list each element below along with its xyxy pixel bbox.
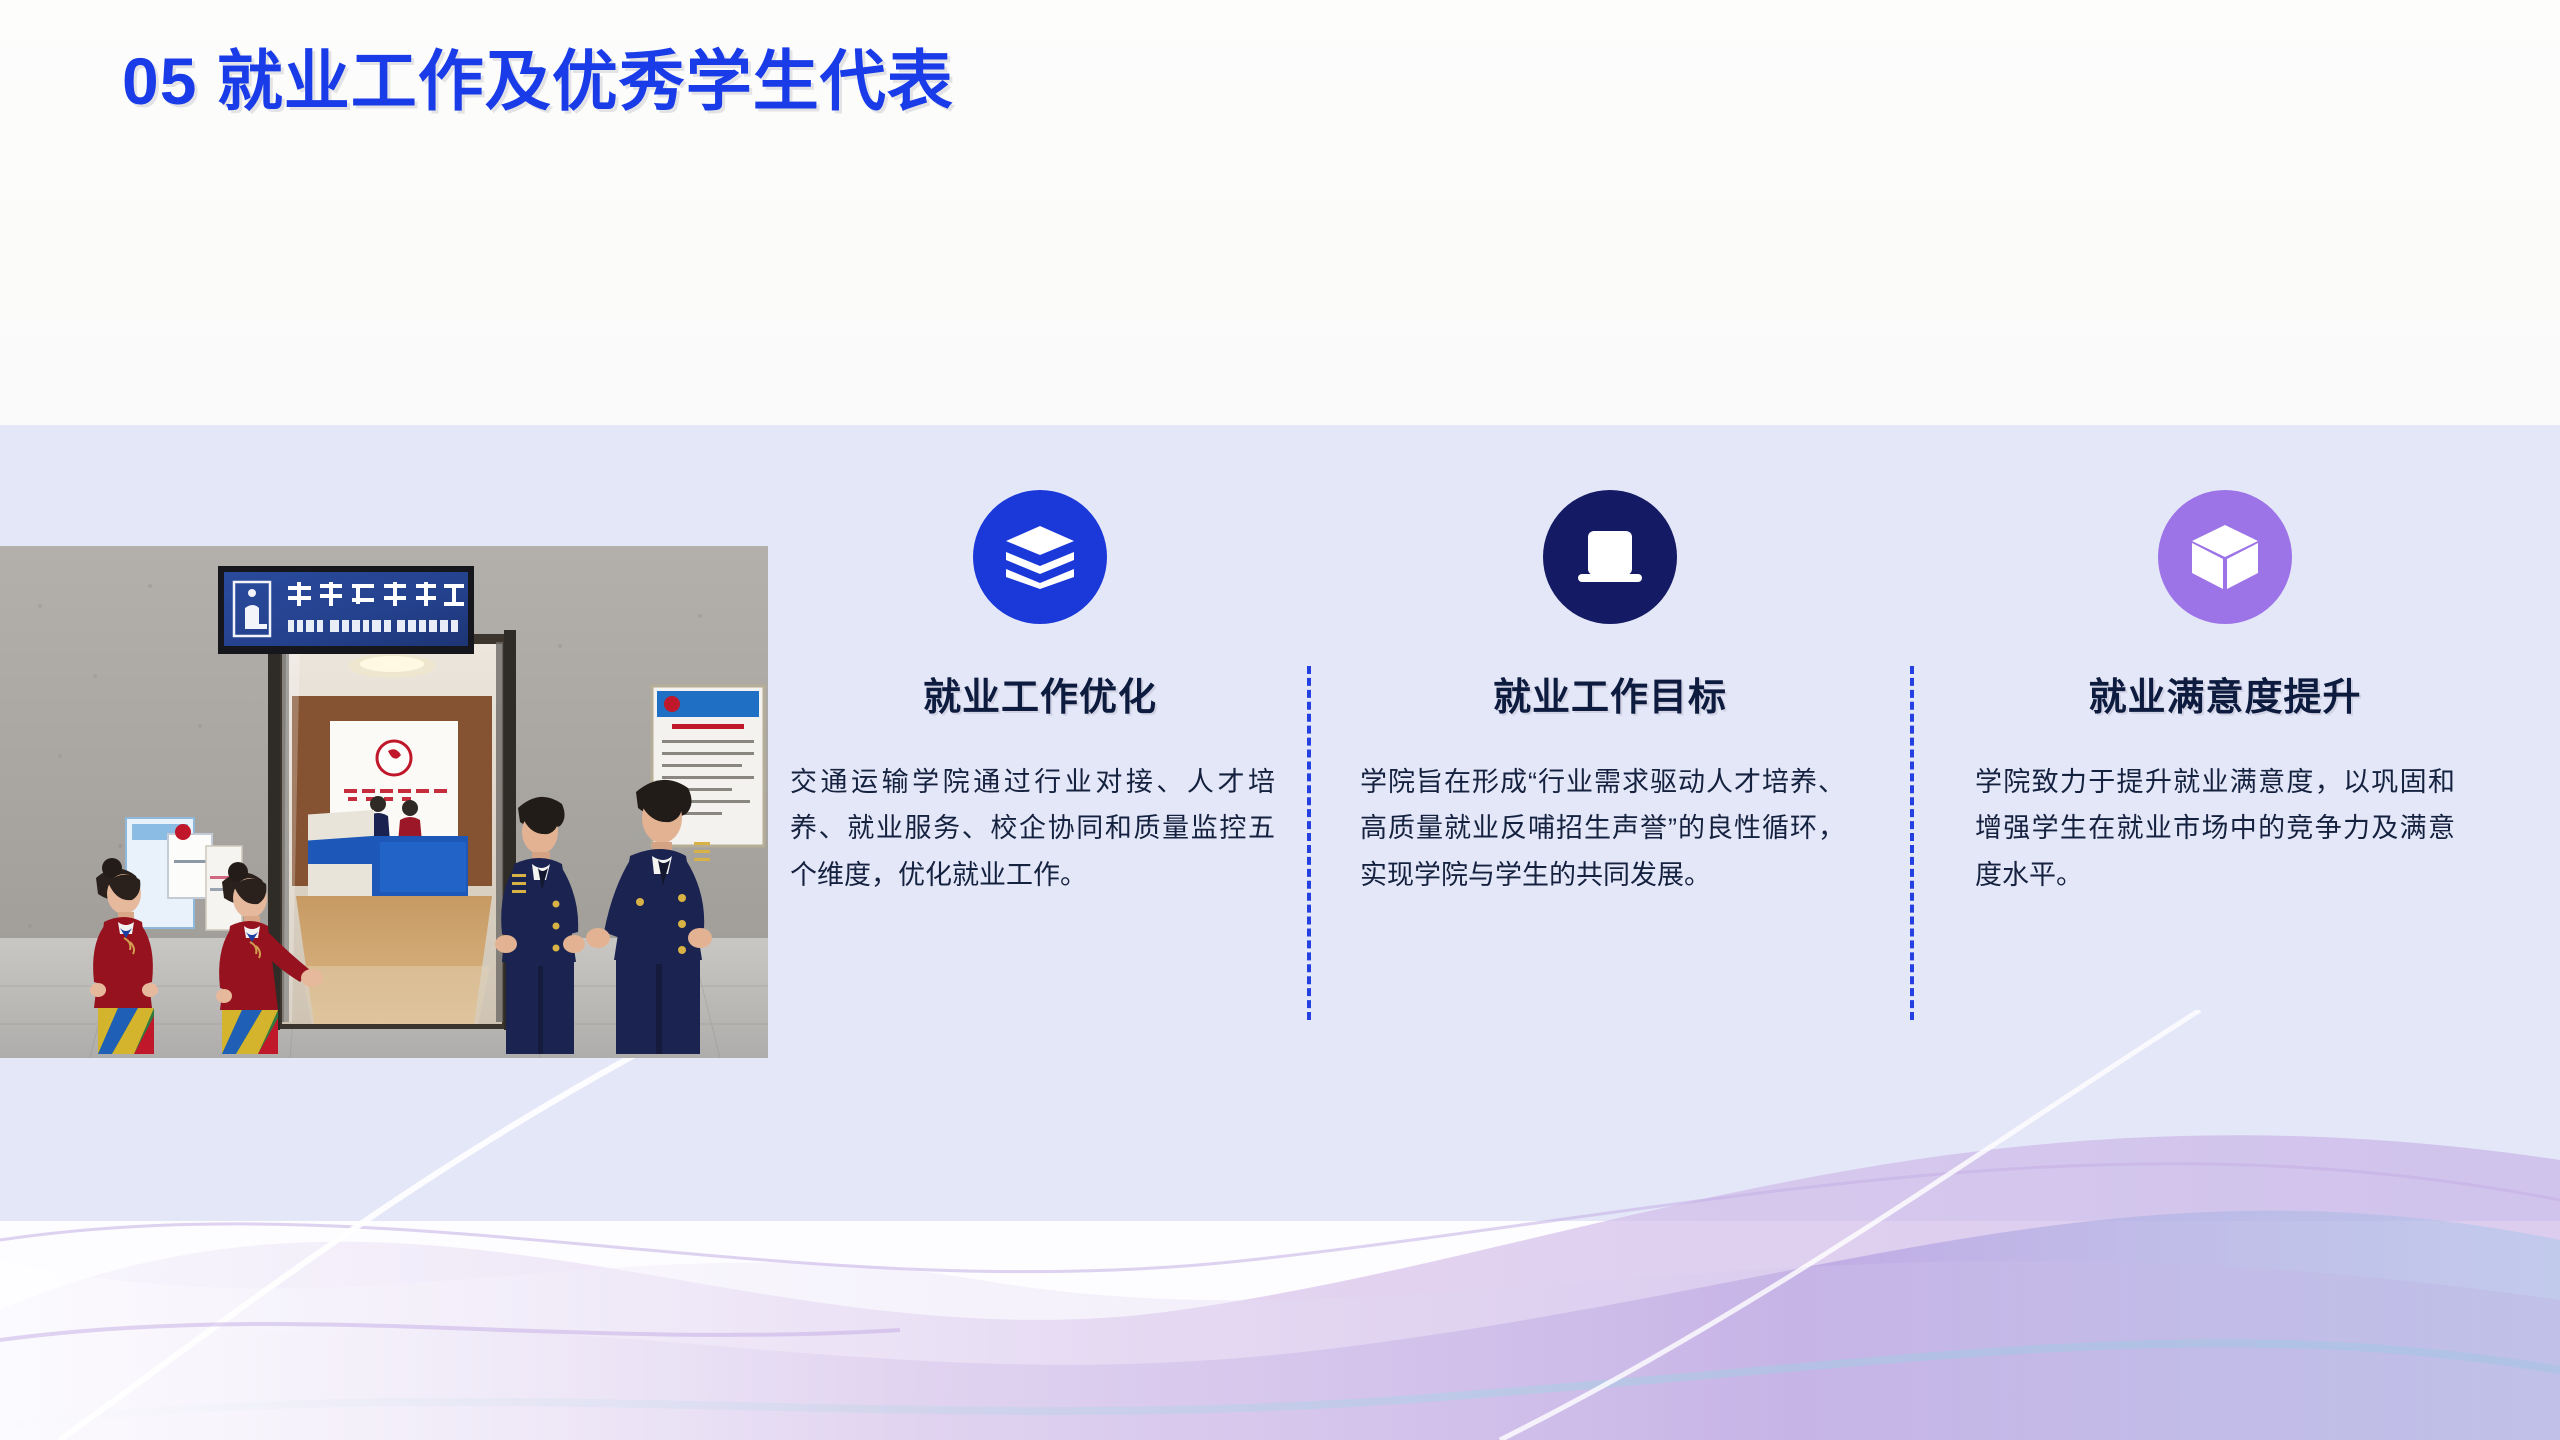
layers-icon <box>973 490 1107 624</box>
slide-canvas: 05 就业工作及优秀学生代表 <box>0 0 2560 1440</box>
icon-container-1 <box>790 490 1290 624</box>
cube-icon <box>2158 490 2292 624</box>
icon-container-3 <box>1975 490 2475 624</box>
feature-column-1: 就业工作优化 交通运输学院通过行业对接、人才培养、就业服务、校企协同和质量监控五… <box>790 490 1290 898</box>
laptop-icon <box>1543 490 1677 624</box>
feature-column-2: 就业工作目标 学院旨在形成“行业需求驱动人才培养、高质量就业反哺招生声誉”的良性… <box>1360 490 1860 898</box>
column-heading-2: 就业工作目标 <box>1360 666 1860 721</box>
icon-container-2 <box>1360 490 1860 624</box>
background-band-bottom <box>0 1221 2560 1440</box>
column-body-1: 交通运输学院通过行业对接、人才培养、就业服务、校企协同和质量监控五个维度，优化就… <box>790 759 1275 898</box>
column-body-2: 学院旨在形成“行业需求驱动人才培养、高质量就业反哺招生声誉”的良性循环，实现学院… <box>1360 759 1845 898</box>
column-divider-1 <box>1307 666 1311 1020</box>
column-divider-2 <box>1910 666 1914 1020</box>
column-heading-1: 就业工作优化 <box>790 666 1290 721</box>
feature-column-3: 就业满意度提升 学院致力于提升就业满意度，以巩固和增强学生在就业市场中的竞争力及… <box>1975 490 2475 898</box>
lounge-photo <box>0 546 768 1058</box>
column-heading-3: 就业满意度提升 <box>1975 666 2475 721</box>
page-title: 05 就业工作及优秀学生代表 <box>122 28 954 124</box>
column-body-3: 学院致力于提升就业满意度，以巩固和增强学生在就业市场中的竞争力及满意度水平。 <box>1975 759 2455 898</box>
